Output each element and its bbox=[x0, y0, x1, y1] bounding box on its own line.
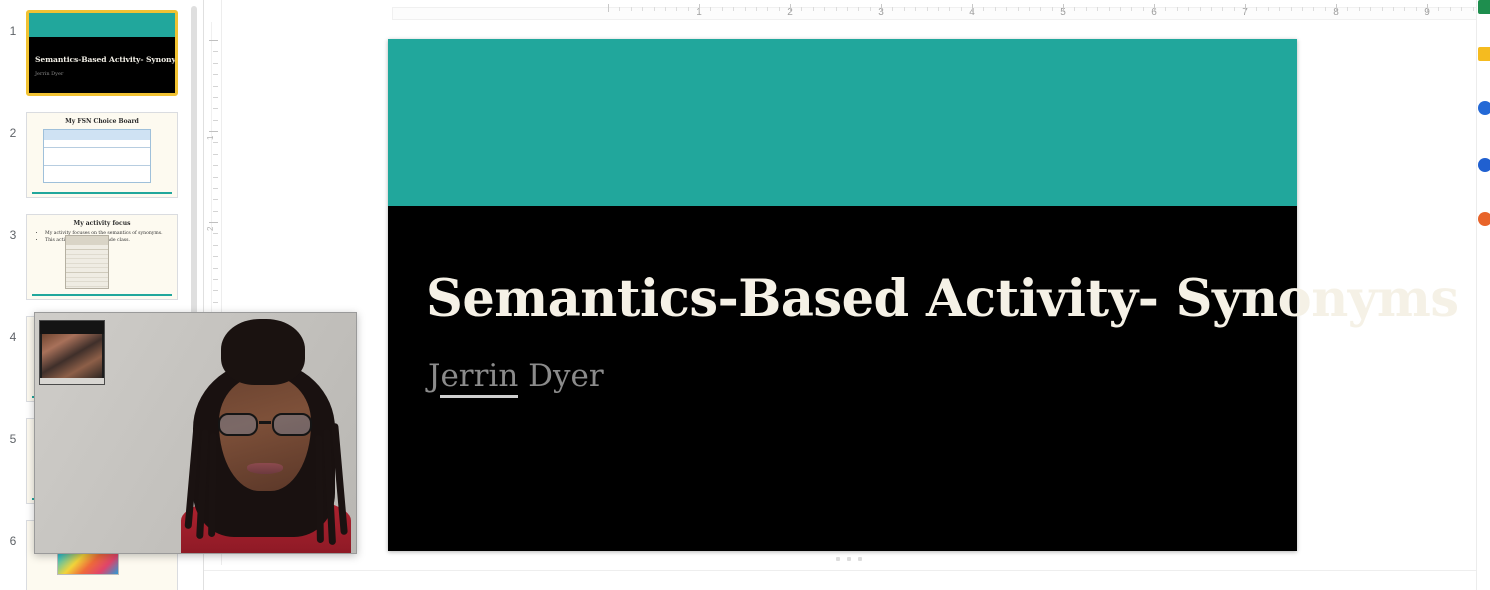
ruler-tick bbox=[892, 7, 893, 11]
handle-dot bbox=[836, 557, 840, 561]
thumb-title-1: Semantics-Based Activity- Synonyms bbox=[35, 55, 169, 64]
ruler-tick bbox=[642, 7, 643, 11]
ruler-tick bbox=[1336, 4, 1337, 12]
ruler-tick bbox=[1109, 7, 1110, 11]
ruler-tick bbox=[1234, 7, 1235, 11]
framed-photo-on-wall bbox=[39, 320, 105, 385]
ruler-tick bbox=[1245, 4, 1246, 12]
ruler-tick bbox=[1029, 7, 1030, 11]
ruler-tick bbox=[213, 120, 218, 121]
filmstrip-slide-2[interactable]: 2 My FSN Choice Board bbox=[0, 112, 188, 198]
slide-number-1: 1 bbox=[0, 10, 26, 38]
ruler-tick bbox=[1325, 7, 1326, 11]
thumb-choice-board-image bbox=[43, 129, 151, 183]
ruler-tick bbox=[1268, 7, 1269, 11]
ruler-tick bbox=[870, 7, 871, 11]
ruler-tick bbox=[631, 7, 632, 11]
ruler-tick bbox=[1393, 7, 1394, 11]
ruler-tick bbox=[779, 7, 780, 11]
presenter-hair-bun bbox=[221, 319, 305, 385]
ruler-tick bbox=[961, 7, 962, 11]
slide-canvas-area[interactable]: Semantics-Based Activity- Synonyms Jerri… bbox=[222, 24, 1476, 565]
ruler-tick bbox=[858, 7, 859, 11]
ruler-tick bbox=[699, 4, 700, 12]
ruler-tick bbox=[745, 7, 746, 11]
ruler-tick bbox=[1074, 7, 1075, 11]
ruler-tick bbox=[710, 7, 711, 11]
active-slide-editor[interactable]: Semantics-Based Activity- Synonyms Jerri… bbox=[388, 39, 1297, 551]
ruler-tick bbox=[213, 74, 218, 75]
filmstrip-scrollbar[interactable] bbox=[190, 6, 198, 328]
ruler-tick bbox=[1154, 4, 1155, 12]
ruler-tick bbox=[1143, 7, 1144, 11]
filmstrip-slide-3[interactable]: 3 My activity focus My activity focuses … bbox=[0, 214, 188, 300]
ruler-tick bbox=[213, 211, 218, 212]
ruler-tick bbox=[938, 7, 939, 11]
subtitle-prefix: J bbox=[428, 358, 440, 394]
ruler-tick bbox=[213, 199, 218, 200]
photo-frame-image bbox=[42, 334, 102, 378]
thumb-subtitle-1: Jerrin Dyer bbox=[35, 71, 63, 77]
ruler-tick bbox=[209, 131, 218, 132]
ruler-tick bbox=[1222, 7, 1223, 11]
thumb-title-3: My activity focus bbox=[27, 220, 177, 227]
ruler-tick bbox=[1006, 7, 1007, 11]
ruler-tick bbox=[1450, 7, 1451, 11]
ruler-tick bbox=[927, 7, 928, 11]
slide-number-5: 5 bbox=[0, 418, 26, 446]
slide-thumbnail-2[interactable]: My FSN Choice Board bbox=[26, 112, 178, 198]
ruler-tick bbox=[1086, 7, 1087, 11]
ruler-tick bbox=[1461, 7, 1462, 11]
filmstrip-slide-1[interactable]: 1 Semantics-Based Activity- Synonyms Jer… bbox=[0, 10, 188, 96]
ruler-tick bbox=[676, 7, 677, 11]
slide-subtitle-textbox[interactable]: Jerrin Dyer bbox=[428, 359, 604, 393]
ruler-tick bbox=[995, 7, 996, 11]
slide-number-2: 2 bbox=[0, 112, 26, 140]
ruler-tick bbox=[767, 7, 768, 11]
presenter-mouth bbox=[247, 463, 283, 474]
ruler-tick bbox=[1165, 7, 1166, 11]
ruler-tick bbox=[915, 7, 916, 11]
photo-frame-top bbox=[40, 321, 104, 334]
spreadsheet-icon[interactable] bbox=[1478, 0, 1490, 14]
ruler-tick bbox=[1063, 4, 1064, 12]
ruler-tick bbox=[213, 279, 218, 280]
ruler-tick bbox=[213, 177, 218, 178]
photo-frame-bottom bbox=[40, 378, 104, 384]
ruler-tick bbox=[608, 4, 609, 12]
ruler-tick bbox=[949, 7, 950, 11]
ruler-tick bbox=[801, 7, 802, 11]
speaker-notes-panel[interactable] bbox=[204, 570, 1490, 590]
side-panel-rail[interactable] bbox=[1476, 0, 1490, 590]
ruler-tick bbox=[733, 7, 734, 11]
ruler-tick bbox=[722, 7, 723, 11]
ruler-tick bbox=[213, 165, 218, 166]
keep-notes-icon[interactable] bbox=[1478, 47, 1490, 61]
ruler-tick bbox=[209, 40, 218, 41]
ruler-tick bbox=[881, 4, 882, 12]
ruler-tick bbox=[1347, 7, 1348, 11]
ruler-tick bbox=[213, 268, 218, 269]
ruler-tick bbox=[790, 4, 791, 12]
ruler-tick bbox=[1211, 7, 1212, 11]
vruler-label-2: 2 bbox=[206, 227, 215, 231]
slide-number-4: 4 bbox=[0, 316, 26, 344]
contacts-icon[interactable] bbox=[1478, 158, 1490, 172]
ruler-tick bbox=[213, 188, 218, 189]
slide-title-textbox[interactable]: Semantics-Based Activity- Synonyms bbox=[426, 273, 1246, 327]
ruler-tick bbox=[1427, 4, 1428, 12]
ruler-tick bbox=[213, 154, 218, 155]
ruler-tick bbox=[1018, 7, 1019, 11]
handle-dot bbox=[847, 557, 851, 561]
ruler-tick bbox=[1302, 7, 1303, 11]
ruler-tick bbox=[213, 108, 218, 109]
presenter-figure bbox=[167, 317, 357, 553]
ruler-tick bbox=[665, 7, 666, 11]
maps-icon[interactable] bbox=[1478, 212, 1490, 226]
ruler-tick bbox=[688, 7, 689, 11]
ruler-tick bbox=[836, 7, 837, 11]
ruler-tick bbox=[1473, 7, 1474, 11]
ruler-tick bbox=[847, 7, 848, 11]
slide-number-3: 3 bbox=[0, 214, 26, 242]
ruler-tick bbox=[213, 51, 218, 52]
thumb-accent-bar bbox=[32, 294, 172, 297]
ruler-tick bbox=[654, 7, 655, 11]
handle-dot bbox=[858, 557, 862, 561]
filmstrip-scrollbar-thumb[interactable] bbox=[191, 6, 197, 324]
ruler-tick bbox=[213, 302, 218, 303]
ruler-tick bbox=[1177, 7, 1178, 11]
subtitle-suffix: Dyer bbox=[518, 358, 603, 394]
ruler-tick bbox=[213, 63, 218, 64]
vruler-label-1: 1 bbox=[206, 136, 215, 140]
ruler-tick bbox=[213, 86, 218, 87]
webcam-video-feed[interactable] bbox=[34, 312, 357, 554]
slide-thumbnail-3[interactable]: My activity focus My activity focuses on… bbox=[26, 214, 178, 300]
ruler-tick bbox=[1404, 7, 1405, 11]
slide-teal-banner bbox=[388, 39, 1297, 206]
ruler-tick bbox=[1131, 7, 1132, 11]
ruler-tick bbox=[1359, 7, 1360, 11]
slide-thumbnail-1[interactable]: Semantics-Based Activity- Synonyms Jerri… bbox=[26, 10, 178, 96]
thumb-teal-band bbox=[29, 13, 175, 37]
horizontal-ruler: 1 2 3 4 5 6 7 8 9 bbox=[222, 0, 1490, 24]
ruler-tick bbox=[1370, 7, 1371, 11]
ruler-tick bbox=[619, 7, 620, 11]
thumb-worksheet-image bbox=[65, 235, 109, 289]
ruler-tick bbox=[983, 7, 984, 11]
ruler-tick bbox=[1200, 7, 1201, 11]
ruler-tick bbox=[1256, 7, 1257, 11]
glasses-bridge bbox=[259, 421, 271, 424]
tasks-icon[interactable] bbox=[1478, 101, 1490, 115]
ruler-tick bbox=[1291, 7, 1292, 11]
presenter-glasses bbox=[217, 413, 313, 437]
ruler-tick bbox=[213, 256, 218, 257]
ruler-tick bbox=[213, 290, 218, 291]
ruler-tick bbox=[756, 7, 757, 11]
ruler-tick bbox=[213, 233, 218, 234]
thumb-accent-bar bbox=[32, 192, 172, 195]
ruler-tick bbox=[1313, 7, 1314, 11]
ruler-tick bbox=[1052, 7, 1053, 11]
slides-editor-window: 1 Semantics-Based Activity- Synonyms Jer… bbox=[0, 0, 1490, 590]
speaker-notes-drag-handle[interactable] bbox=[836, 557, 862, 561]
thumb-title-2: My FSN Choice Board bbox=[27, 118, 177, 125]
glasses-left-lens bbox=[218, 413, 258, 436]
ruler-tick bbox=[1097, 7, 1098, 11]
ruler-tick bbox=[1120, 7, 1121, 11]
thumb-black-body bbox=[29, 37, 175, 93]
ruler-tick bbox=[824, 7, 825, 11]
slide-number-6: 6 bbox=[0, 520, 26, 548]
ruler-tick bbox=[1040, 7, 1041, 11]
ruler-tick bbox=[1279, 7, 1280, 11]
ruler-tick bbox=[1438, 7, 1439, 11]
ruler-tick bbox=[904, 7, 905, 11]
ruler-tick bbox=[1382, 7, 1383, 11]
ruler-tick bbox=[1416, 7, 1417, 11]
ruler-tick bbox=[213, 245, 218, 246]
glasses-right-lens bbox=[272, 413, 312, 436]
ruler-tick bbox=[213, 97, 218, 98]
ruler-tick bbox=[209, 222, 218, 223]
ruler-tick bbox=[813, 7, 814, 11]
ruler-tick bbox=[213, 142, 218, 143]
subtitle-spellcheck-underline: errin bbox=[440, 358, 518, 398]
ruler-tick bbox=[1188, 7, 1189, 11]
ruler-tick bbox=[972, 4, 973, 12]
